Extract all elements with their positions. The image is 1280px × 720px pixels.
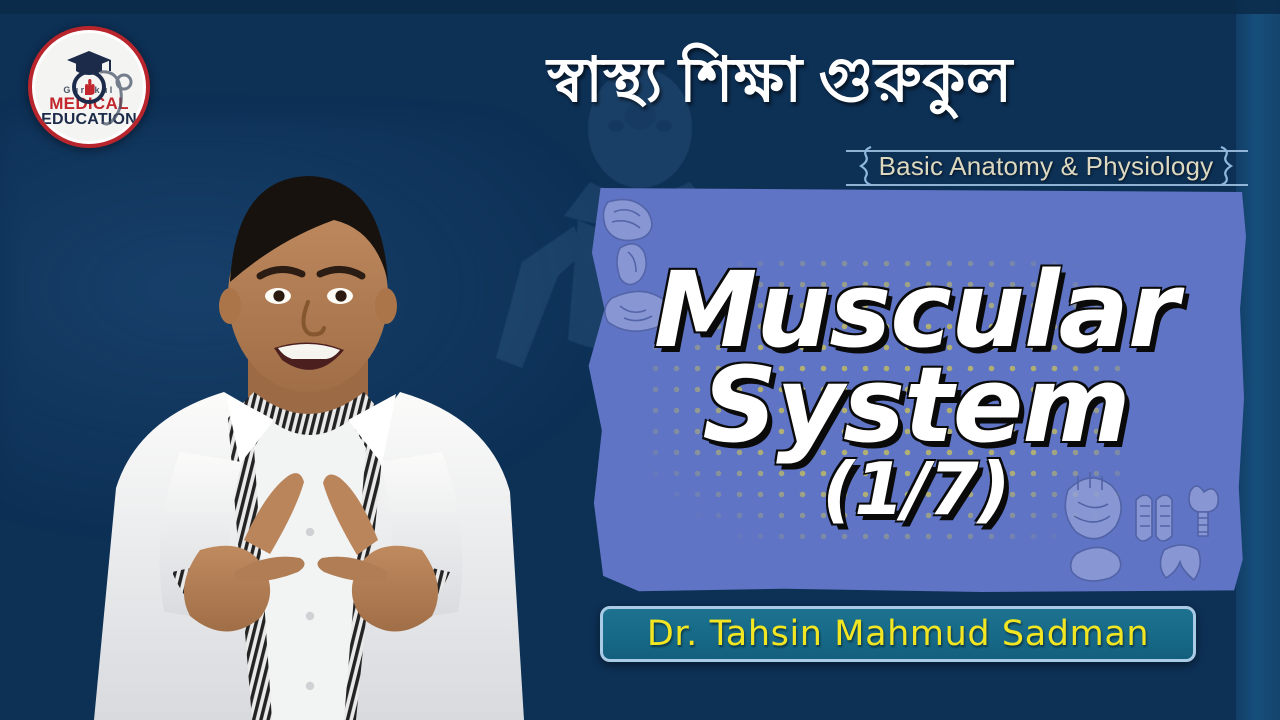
background-top-strip [0,0,1280,14]
brand-logo[interactable]: Gurukul MEDICAL EDUCATION [28,26,150,148]
subtitle-text: Basic Anatomy & Physiology [873,151,1220,182]
presenter-photo [48,120,568,720]
page-title: স্বাস্থ্য শিক্ষা গুরুকুল [430,36,1130,128]
title-panel-text: Muscular System (1/7) [586,188,1246,592]
bracket-right-icon [1219,146,1235,186]
stethoscope-icon [94,68,138,130]
bracket-left-icon [857,146,873,186]
subtitle-chip: Basic Anatomy & Physiology [836,146,1256,186]
title-line-3: (1/7) [822,455,1009,523]
presenter-name: Dr. Tahsin Mahmud Sadman [647,614,1149,654]
video-thumbnail: Gurukul MEDICAL EDUCATION স্বাস্থ্য শিক্… [0,0,1280,720]
title-line-2: System [702,356,1129,455]
title-panel: Muscular System (1/7) [586,188,1246,592]
presenter-name-bar: Dr. Tahsin Mahmud Sadman [600,606,1196,662]
